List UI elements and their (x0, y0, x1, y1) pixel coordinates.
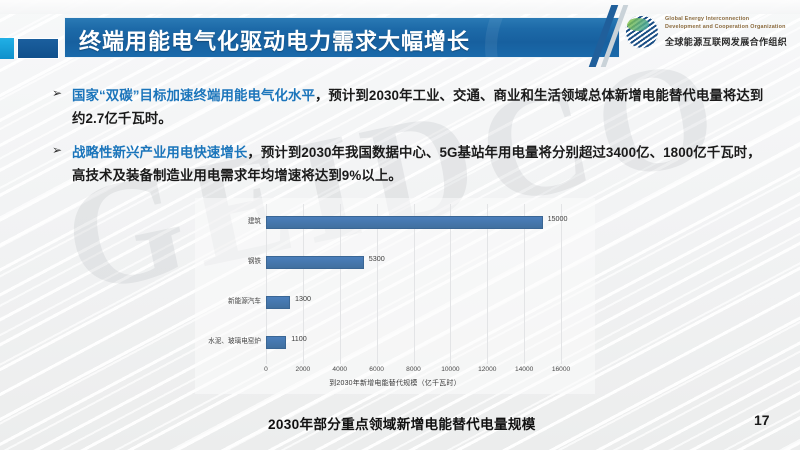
chart-x-tick-label: 4000 (332, 366, 347, 373)
slide-title-bar: 终端用能电气化驱动电力需求大幅增长 (64, 17, 620, 58)
chart-gridline (561, 204, 562, 364)
chart-x-tick-label: 12000 (478, 366, 496, 373)
chart-data-label: 1100 (291, 334, 306, 343)
chart-x-tick-label: 10000 (441, 366, 459, 373)
chart-data-label: 1300 (295, 294, 311, 303)
chart-data-label: 5300 (369, 254, 385, 263)
chart-bar (266, 336, 286, 349)
chart-category-label: 水泥、玻璃电窑炉 (208, 335, 261, 345)
chart-caption: 2030年部分重点领域新增电能替代电量规模 (268, 413, 536, 433)
chart-x-tick-label: 16000 (552, 366, 570, 373)
globe-icon (625, 15, 659, 49)
chart-bar (266, 296, 290, 309)
chart-bar (266, 256, 364, 269)
bullet-text-2: 战略性新兴产业用电快速增长，预计到2030年我国数据中心、5G基站年用电量将分别… (72, 141, 768, 187)
logo-english-line-2: Development and Cooperation Organization (665, 24, 793, 32)
page-title: 终端用能电气化驱动电力需求大幅增长 (79, 24, 470, 56)
header-accent-cyan-block (0, 38, 14, 59)
chart-category-label: 新能源汽车 (228, 295, 261, 305)
bullet-item-1: ➢ 国家“双碳”目标加速终端用能电气化水平，预计到2030年工业、交通、商业和生… (52, 84, 768, 130)
chart-plot-area: 建筑15000钢铁5300新能源汽车1300水泥、玻璃电窑炉1100 (266, 204, 561, 364)
bullet-item-2: ➢ 战略性新兴产业用电快速增长，预计到2030年我国数据中心、5G基站年用电量将… (52, 141, 768, 187)
chart-x-tick-label: 14000 (515, 366, 533, 373)
arrow-bullet-icon: ➢ (52, 87, 62, 99)
chart-bar-row: 建筑15000 (266, 204, 561, 244)
bar-chart: 建筑15000钢铁5300新能源汽车1300水泥、玻璃电窑炉1100 02000… (195, 198, 595, 394)
logo-chinese-text: 全球能源互联网发展合作组织 (665, 35, 793, 48)
chart-x-tick-label: 8000 (406, 366, 421, 373)
chart-data-label: 15000 (548, 214, 568, 223)
bullet-lead-2: 战略性新兴产业用电快速增长 (72, 145, 247, 160)
arrow-bullet-icon: ➢ (52, 144, 62, 156)
chart-x-axis-ticks: 0200040006000800010000120001400016000 (266, 366, 561, 378)
page-number: 17 (754, 412, 770, 428)
organization-logo: Global Energy Interconnection Developmen… (625, 10, 793, 54)
chart-category-label: 建筑 (248, 215, 261, 225)
chart-bar (266, 216, 543, 229)
bullet-text-1: 国家“双碳”目标加速终端用能电气化水平，预计到2030年工业、交通、商业和生活领… (72, 84, 768, 130)
logo-english-text: Global Energy Interconnection Developmen… (665, 16, 793, 31)
bullet-lead-1: 国家“双碳”目标加速终端用能电气化水平 (72, 88, 315, 103)
header-accent-dark-block (17, 38, 59, 59)
chart-category-label: 钢铁 (248, 255, 261, 265)
bullet-list: ➢ 国家“双碳”目标加速终端用能电气化水平，预计到2030年工业、交通、商业和生… (52, 84, 768, 198)
chart-bar-row: 钢铁5300 (266, 244, 561, 284)
chart-bar-row: 新能源汽车1300 (266, 284, 561, 324)
logo-english-line-1: Global Energy Interconnection (665, 16, 793, 24)
slide-canvas: GEIDCO 终端用能电气化驱动电力需求大幅增长 Global Energy I… (0, 0, 800, 450)
chart-x-tick-label: 2000 (296, 366, 311, 373)
chart-bar-row: 水泥、玻璃电窑炉1100 (266, 324, 561, 364)
chart-x-axis-title: 到2030年新增电能替代规模（亿千瓦时） (195, 378, 595, 388)
chart-x-tick-label: 0 (264, 366, 268, 373)
chart-x-tick-label: 6000 (369, 366, 384, 373)
